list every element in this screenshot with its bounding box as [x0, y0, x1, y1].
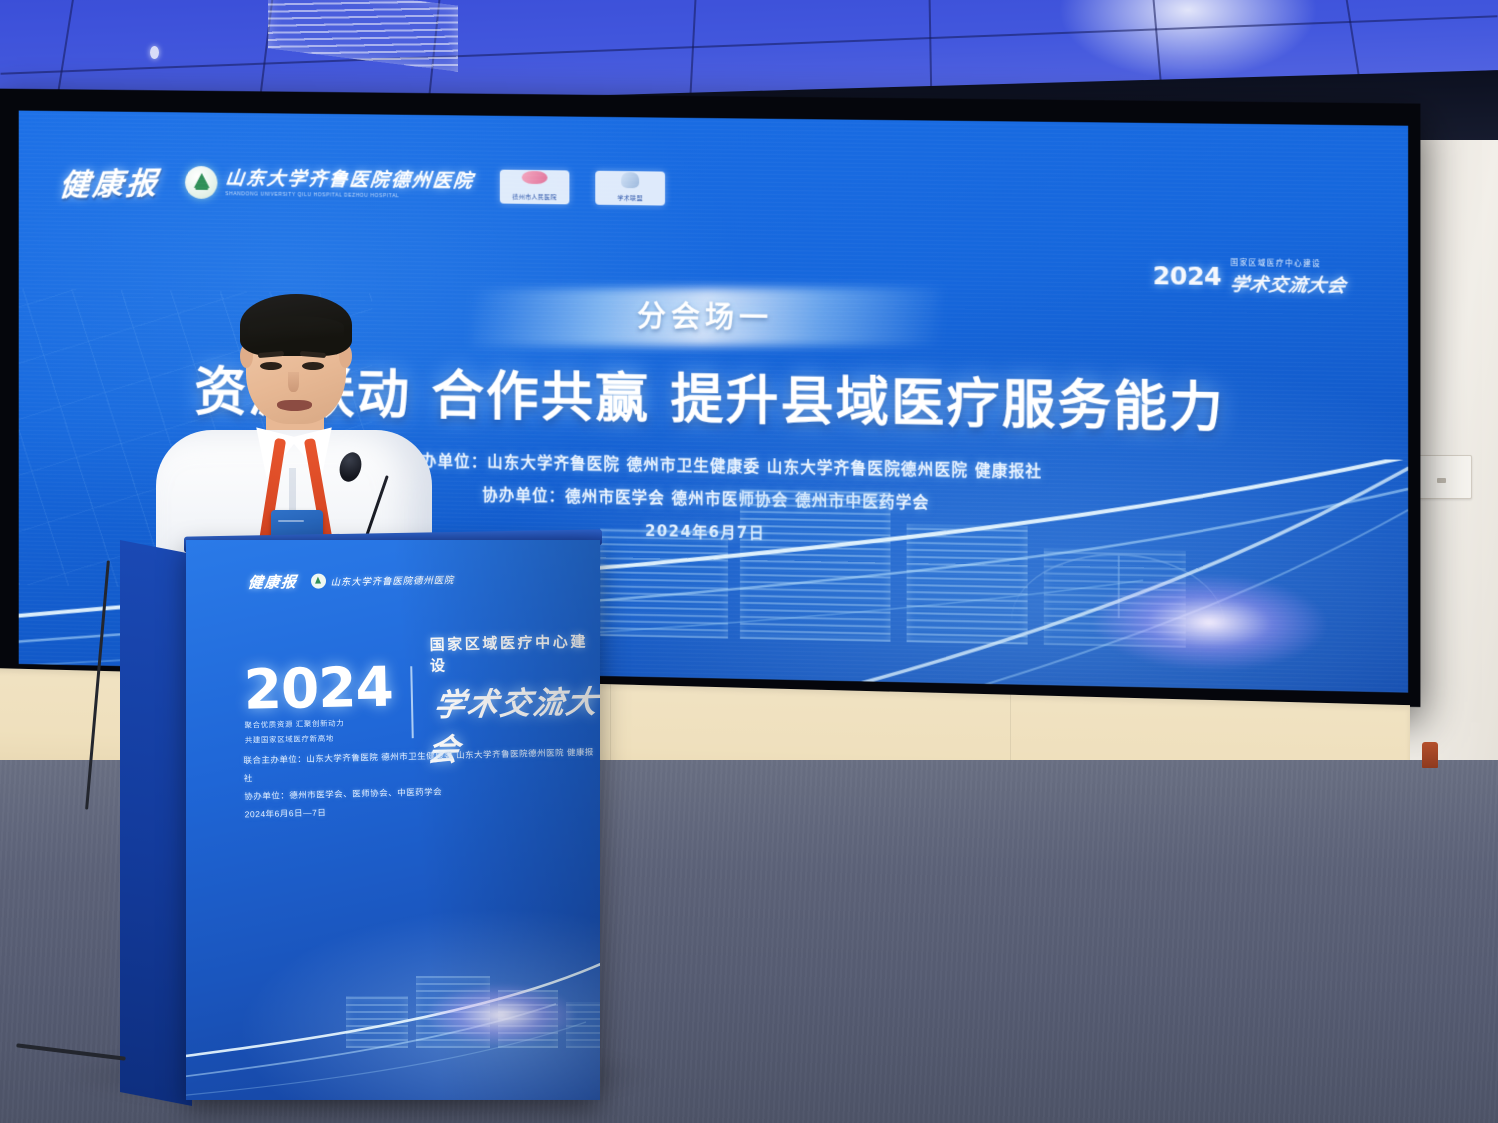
building-shape: [907, 524, 1028, 645]
podium-brand-block: 2024 聚合优质资源 汇聚创新动力 共建国家区域医疗新高地 国家区域医疗中心建…: [243, 630, 600, 773]
podium-side-panel: [120, 540, 192, 1106]
speaker-eye: [260, 362, 282, 370]
podium-org-line2: 协办单位：德州市医学会、医师协会、中医药学会: [244, 779, 600, 806]
speaker-nose: [288, 372, 299, 392]
partner-logo-1-label: 德州市人民医院: [512, 195, 557, 202]
podium-divider: [410, 666, 413, 738]
podium-org-line1: 联合主办单位：山东大学齐鲁医院 德州市卫生健康委 山东大学齐鲁医院德州医院 健康…: [243, 744, 600, 788]
screen-logo-row: 健康报 山东大学齐鲁医院德州医院 SHANDONG UNIVERSITY QIL…: [60, 158, 665, 210]
building-shape: [740, 489, 890, 642]
building-shape: [498, 990, 558, 1048]
podium: 健康报 山东大学齐鲁医院德州医院 2024 聚合优质资源 汇聚创新动力 共建国家…: [120, 540, 600, 1115]
wall-outlet-plate: [1412, 455, 1472, 499]
qilu-tree-icon: [185, 166, 217, 199]
qilu-hospital-name-cn: 山东大学齐鲁医院德州医院: [224, 169, 475, 191]
podium-title-main: 学术交流大会: [425, 676, 600, 770]
speaker-eye: [302, 362, 324, 370]
qilu-hospital-logo: 山东大学齐鲁医院德州医院 SHANDONG UNIVERSITY QILU HO…: [185, 166, 474, 202]
ceiling-light-glow: [1058, 0, 1318, 80]
podium-front-panel: 健康报 山东大学齐鲁医院德州医院 2024 聚合优质资源 汇聚创新动力 共建国家…: [186, 540, 600, 1100]
building-shape: [346, 996, 408, 1048]
building-shape: [416, 976, 490, 1048]
podium-organizer-block: 联合主办单位：山东大学齐鲁医院 德州市卫生健康委 山东大学齐鲁医院德州医院 健康…: [243, 744, 600, 824]
corner-logo-subtitle: 国家区域医疗中心建设: [1230, 257, 1346, 270]
partner-logo-2-label: 学术联盟: [617, 196, 643, 203]
podium-qilu-tree-icon: [310, 573, 325, 588]
podium-swoosh-graphic: [186, 940, 600, 1100]
podium-org-line3: 2024年6月6日—7日: [244, 797, 600, 824]
podium-year: 2024: [243, 662, 393, 716]
building-shape: [566, 1002, 600, 1048]
door-stop: [1422, 742, 1438, 768]
speaker-mouth: [277, 400, 312, 411]
podium-building-graphic: [336, 928, 600, 1048]
speaker-hair: [240, 294, 352, 356]
podium-health-daily-logo: 健康报: [247, 571, 299, 593]
podium-title-top: 国家区域医疗中心建设: [429, 630, 599, 676]
ceiling-sprinkler-icon: [150, 46, 159, 59]
podium-qilu-name: 山东大学齐鲁医院德州医院: [330, 572, 454, 588]
screen-corner-event-logo: 2024 国家区域医疗中心建设 学术交流大会: [1153, 256, 1347, 298]
partner-logo-1-mark-icon: [522, 170, 548, 183]
screen-light-flare: [1092, 572, 1326, 672]
corner-logo-main: 学术交流大会: [1229, 270, 1349, 298]
podium-year-sub-line2: 共建国家区域医疗新高地: [245, 732, 394, 746]
partner-logo-1: 德州市人民医院: [500, 169, 570, 204]
podium-light-flare: [426, 984, 576, 1046]
podium-qilu-logo: 山东大学齐鲁医院德州医院: [310, 571, 454, 589]
partner-logo-2: 学术联盟: [595, 170, 665, 205]
podium-year-sub-line1: 聚合优质资源 汇聚创新动力: [244, 717, 393, 731]
podium-logo-row: 健康报 山东大学齐鲁医院德州医院: [248, 568, 454, 593]
partner-logo-2-mark-icon: [621, 172, 639, 188]
building-shape: [600, 528, 728, 638]
session-label: 分会场一: [637, 293, 773, 337]
corner-logo-year: 2024: [1153, 261, 1222, 291]
conference-photo-scene: 健康报 山东大学齐鲁医院德州医院 SHANDONG UNIVERSITY QIL…: [0, 0, 1498, 1123]
qilu-hospital-name-en: SHANDONG UNIVERSITY QILU HOSPITAL DEZHOU…: [225, 192, 474, 200]
health-daily-logo: 健康报: [58, 158, 162, 205]
